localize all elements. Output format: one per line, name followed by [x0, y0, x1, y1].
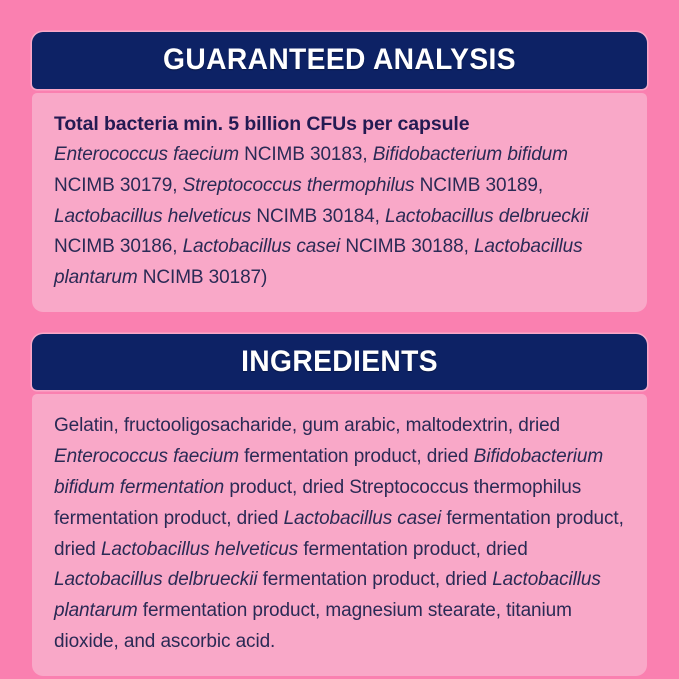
ingredients-body: Gelatin, fructooligosacharide, gum arabi…	[32, 394, 647, 675]
ingredients-panel: INGREDIENTS Gelatin, fructooligosacharid…	[32, 334, 647, 676]
ingredients-title: INGREDIENTS	[60, 346, 619, 378]
guaranteed-analysis-body: Total bacteria min. 5 billion CFUs per c…	[32, 93, 647, 312]
ingredients-header: INGREDIENTS	[32, 334, 647, 391]
guaranteed-analysis-panel: GUARANTEED ANALYSIS Total bacteria min. …	[32, 32, 647, 312]
strain-list: Enterococcus faecium NCIMB 30183, Bifido…	[54, 140, 625, 294]
guaranteed-analysis-title: GUARANTEED ANALYSIS	[60, 44, 619, 76]
ingredients-list: Gelatin, fructooligosacharide, gum arabi…	[54, 411, 625, 657]
guaranteed-analysis-header: GUARANTEED ANALYSIS	[32, 32, 647, 89]
supplement-label-sheet: GUARANTEED ANALYSIS Total bacteria min. …	[0, 0, 679, 679]
panel-divider	[32, 312, 647, 334]
total-bacteria-line: Total bacteria min. 5 billion CFUs per c…	[54, 110, 625, 140]
